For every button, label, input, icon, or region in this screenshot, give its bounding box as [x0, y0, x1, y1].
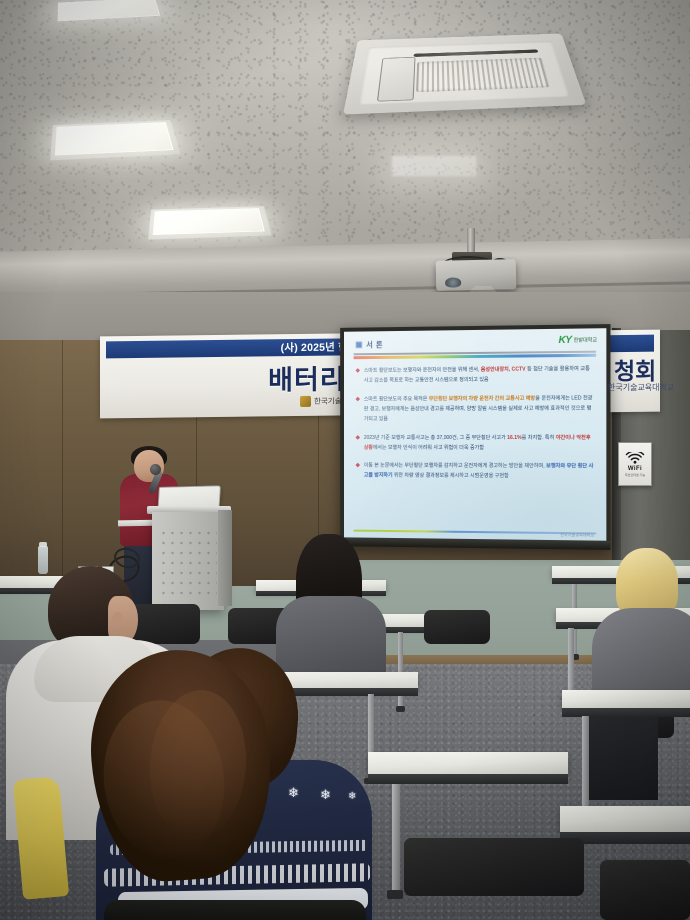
bullet-text-segment: 를 차지함. 특히	[522, 435, 556, 441]
chair	[600, 860, 690, 920]
projection-screen[interactable]: 서 론 KY 한밭대학교 ◆스마트 횡단보도는 보행자와 운전자의 안전을 위해…	[344, 328, 606, 542]
ceiling-projector	[436, 259, 517, 291]
wifi-icon	[625, 452, 645, 465]
slide-bullet-item: ◆스마트 횡단보도의 주요 목적은 무단횡단 보행자의 차량 운전자 간의 교통…	[356, 394, 595, 425]
slide-bullet-text: 스마트 횡단보도는 보행자와 운전자의 안전을 위해 센서, 음성안내장치, C…	[364, 365, 594, 387]
slide-logo-mark: KY	[558, 335, 571, 346]
slide-bullet-item: ◆2023년 기준 보행자 교통사고는 총 37,000건, 그 중 무단횡단 …	[356, 434, 595, 454]
bullet-marker-icon: ◆	[356, 367, 360, 387]
attendee-left-ear	[112, 612, 123, 627]
table-row	[368, 752, 568, 774]
bullet-marker-icon: ◆	[356, 462, 360, 482]
wifi-sign: WiFi 무선인터넷 가능	[618, 442, 652, 486]
slide-bullet-list: ◆스마트 횡단보도는 보행자와 운전자의 안전을 위해 센서, 음성안내장치, …	[356, 365, 595, 492]
slide-bullet-item: ◆스마트 횡단보도는 보행자와 운전자의 안전을 위해 센서, 음성안내장치, …	[356, 365, 595, 387]
bullet-text-segment: 음성안내장치, CCTV	[481, 367, 526, 373]
banner-title-right-fragment: 청회	[614, 352, 656, 386]
wifi-sign-sublabel: 무선인터넷 가능	[625, 473, 645, 477]
podium-side-panel	[218, 510, 232, 606]
bullet-text-segment: 에서는 보행자 인식이 어려워 사고 위험이 더욱 증가함	[373, 444, 484, 450]
water-bottle	[38, 546, 48, 574]
projector-lens-icon	[445, 277, 461, 287]
lecture-room-photo: (사) 2025년 한국산학기술학회 추계학술대회 배터리 활용성 증대 (2 …	[0, 0, 690, 920]
ac-vane	[377, 57, 416, 102]
slide-logo-name: 한밭대학교	[574, 336, 598, 343]
table-row	[560, 806, 690, 832]
projection-screen-frame: 서 론 KY 한밭대학교 ◆스마트 횡단보도는 보행자와 운전자의 안전을 위해…	[340, 324, 610, 550]
bullet-text-segment: 16.1%	[507, 435, 522, 441]
ac-inner-panel	[359, 41, 569, 105]
podium-perforation-pattern	[159, 528, 217, 602]
bullet-text-segment: 무단횡단 보행자의 차량 운전자 간의 교통사고 예방	[429, 396, 535, 403]
snowflake-icon: ❄	[348, 792, 356, 802]
table-leg	[392, 784, 400, 894]
slide-section-title: 서 론	[366, 339, 383, 350]
attendee-center-body	[276, 596, 386, 672]
square-bullet-icon	[356, 341, 363, 348]
wifi-sign-label: WiFi	[628, 466, 642, 472]
chair	[404, 838, 584, 896]
slide-bullet-item: ◆이동 본 논문에서는 무단횡단 보행자를 감지하고 운전자에게 경고하는 방안…	[356, 462, 595, 483]
bullet-text-segment: 스마트 횡단보도의 주요 목적은	[364, 396, 429, 402]
table-leg	[582, 716, 589, 812]
bullet-text-segment: 2023년 기준 보행자 교통사고는 총 37,000건, 그 중 무단횡단 사…	[364, 435, 507, 441]
snowflake-icon: ❄	[320, 788, 331, 801]
ceiling-air-conditioner	[343, 34, 586, 115]
led-panel-4	[392, 156, 476, 176]
led-panel-1	[55, 122, 174, 155]
wall-seam	[62, 340, 63, 590]
ac-intake-slit	[414, 49, 539, 57]
microphone-icon	[150, 464, 161, 475]
bullet-marker-icon: ◆	[356, 434, 360, 454]
table-leg-foot	[396, 706, 405, 712]
ac-grille	[416, 58, 550, 93]
podium	[152, 512, 224, 610]
bullet-text-segment: 스마트 횡단보도는 보행자와 운전자의 안전을 위해 센서,	[364, 367, 481, 374]
banner-subtitle-right-fragment: 한국기술교육대학교	[608, 382, 674, 393]
slide-footer-text: 한국기술교육대학교	[560, 532, 594, 538]
slide-header: 서 론	[356, 339, 383, 350]
led-panel-2	[153, 208, 265, 235]
bullet-marker-icon: ◆	[356, 395, 360, 424]
bullet-text-segment: 위한 차량 영상 결과정보를 제시하고 시범운영을 구현함	[393, 473, 509, 480]
bullet-text-segment: 이동 본 논문에서는 무단횡단 보행자를 감지하고 운전자에게 경고하는 방안을…	[364, 463, 546, 470]
table-leg	[398, 632, 403, 708]
slide-university-logo: KY 한밭대학교	[558, 334, 597, 346]
slide-bullet-text: 이동 본 논문에서는 무단횡단 보행자를 감지하고 운전자에게 경고하는 방안을…	[364, 462, 594, 483]
table-row	[562, 690, 690, 708]
table-leg-foot	[387, 890, 403, 899]
chair	[424, 610, 490, 644]
table-edge	[368, 774, 568, 784]
university-emblem-icon	[300, 396, 311, 407]
slide-bullet-text: 스마트 횡단보도의 주요 목적은 무단횡단 보행자의 차량 운전자 간의 교통사…	[364, 394, 594, 425]
snowflake-icon: ❄	[288, 786, 299, 799]
slide-bullet-text: 2023년 기준 보행자 교통사고는 총 37,000건, 그 중 무단횡단 사…	[364, 434, 594, 454]
foreground-chair-back	[104, 900, 366, 920]
